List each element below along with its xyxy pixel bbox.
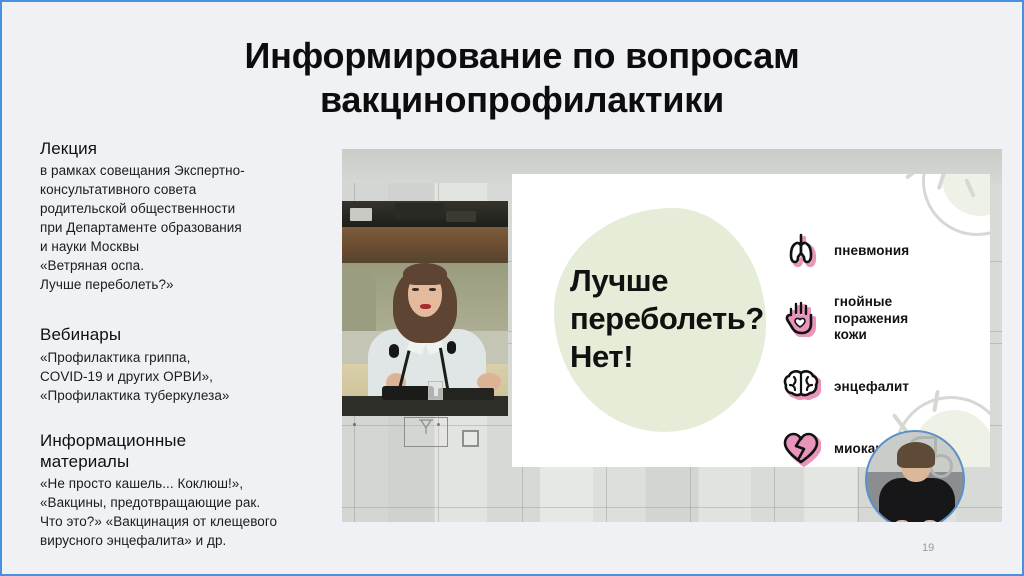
- page-title: Информирование по вопросам вакцинопрофил…: [162, 34, 882, 122]
- microphone-head: [447, 341, 456, 354]
- signer-hair: [897, 442, 935, 468]
- wall-fastener-dot: [353, 423, 356, 426]
- hand-heart-icon: [780, 301, 824, 337]
- content-block-webinars: Вебинары «Профилактика гриппа, COVID-19 …: [40, 324, 330, 404]
- inset-equipment: [394, 203, 444, 219]
- text-line: при Департаменте образования: [40, 218, 330, 237]
- headline-line: переболеть?: [570, 300, 764, 338]
- list-item: пневмония: [780, 220, 980, 282]
- content-block-materials: Информационные материалы «Не просто каше…: [40, 430, 330, 551]
- page-number: 19: [922, 542, 934, 554]
- title-line-2: вакцинопрофилактики: [162, 78, 882, 122]
- block-heading-materials: Информационные материалы: [40, 430, 330, 473]
- inset-frame-marker: [404, 417, 448, 447]
- text-line: «Не просто кашель... Коклюш!»,: [40, 474, 330, 493]
- inset-equipment: [350, 208, 372, 221]
- text-line: вирусного энцефалита» и др.: [40, 531, 330, 550]
- headline-line: Нет!: [570, 338, 764, 376]
- headline-line: Лучше: [570, 262, 764, 300]
- speaker-eye-right: [429, 288, 436, 291]
- signer-body: [879, 478, 955, 522]
- broken-heart-icon: [780, 431, 824, 467]
- text-line: в рамках совещания Экспертно-: [40, 161, 330, 180]
- text-line: Что это?» «Вакцинация от клещевого: [40, 512, 330, 531]
- text-line: «Вакцины, предотвращающие рак.: [40, 493, 330, 512]
- icon-label: пневмония: [834, 243, 909, 259]
- inset-equipment: [446, 211, 476, 222]
- virus-spike: [905, 174, 923, 180]
- label-line: поражения: [834, 311, 908, 327]
- content-block-lecture: Лекция в рамках совещания Экспертно- кон…: [40, 138, 330, 294]
- list-item: гнойные поражения кожи: [780, 282, 980, 356]
- text-line: консультативного совета: [40, 180, 330, 199]
- lungs-icon-svg: [783, 233, 821, 269]
- video-screenshot: Лучше переболеть? Нет!: [342, 149, 1002, 522]
- desk-device: [438, 388, 494, 400]
- icon-label: энцефалит: [834, 379, 909, 395]
- text-line: «Профилактика гриппа,: [40, 348, 330, 367]
- text-line: «Профилактика туберкулеза»: [40, 386, 330, 405]
- block-body-lecture: в рамках совещания Экспертно- консультат…: [40, 161, 330, 294]
- complication-icon-list: пневмония: [780, 220, 980, 467]
- text-line: «Ветряная оспа.: [40, 256, 330, 275]
- microphone-head: [389, 344, 399, 358]
- label-line: энцефалит: [834, 379, 909, 395]
- x-marker-icon: [405, 418, 447, 446]
- block-heading-webinars: Вебинары: [40, 324, 330, 345]
- speaker-hair-top: [403, 263, 447, 285]
- brain-icon-svg: [783, 369, 821, 405]
- block-body-materials: «Не просто кашель... Коклюш!», «Вакцины,…: [40, 474, 330, 550]
- brain-icon: [780, 369, 824, 405]
- title-line-1: Информирование по вопросам: [162, 34, 882, 78]
- icon-label: гнойные поражения кожи: [834, 294, 908, 343]
- broken-heart-icon-svg: [783, 431, 821, 467]
- presentation-slide: Информирование по вопросам вакцинопрофил…: [0, 0, 1024, 576]
- water-glass: [428, 381, 443, 400]
- label-line: гнойные: [834, 294, 908, 310]
- microphone-base: [382, 386, 434, 400]
- speaker-video-inset: [342, 201, 508, 416]
- block-heading-lecture: Лекция: [40, 138, 330, 159]
- hand-heart-icon-svg: [783, 301, 821, 337]
- block-body-webinars: «Профилактика гриппа, COVID-19 и других …: [40, 348, 330, 405]
- left-text-column: Лекция в рамках совещания Экспертно- кон…: [40, 138, 330, 550]
- text-line: родительской общественности: [40, 199, 330, 218]
- label-line: пневмония: [834, 243, 909, 259]
- poster-headline: Лучше переболеть? Нет!: [570, 262, 764, 375]
- text-line: Лучше переболеть?»: [40, 275, 330, 294]
- speaker-eye-left: [412, 288, 419, 291]
- label-line: кожи: [834, 327, 908, 343]
- poster-panel: Лучше переболеть? Нет!: [512, 174, 990, 467]
- inset-wood-panel: [342, 227, 508, 263]
- lungs-icon: [780, 233, 824, 269]
- heading-line: материалы: [40, 451, 330, 472]
- wall-outlet-plate: [462, 430, 479, 447]
- sign-language-interpreter-video: [865, 430, 965, 522]
- speaker-lips: [420, 304, 431, 309]
- signer-hand-right: [923, 520, 937, 522]
- signer-hand-left: [895, 520, 909, 522]
- heading-line: Информационные: [40, 430, 330, 451]
- text-line: COVID-19 и других ОРВИ»,: [40, 367, 330, 386]
- text-line: и науки Москвы: [40, 237, 330, 256]
- list-item: энцефалит: [780, 356, 980, 418]
